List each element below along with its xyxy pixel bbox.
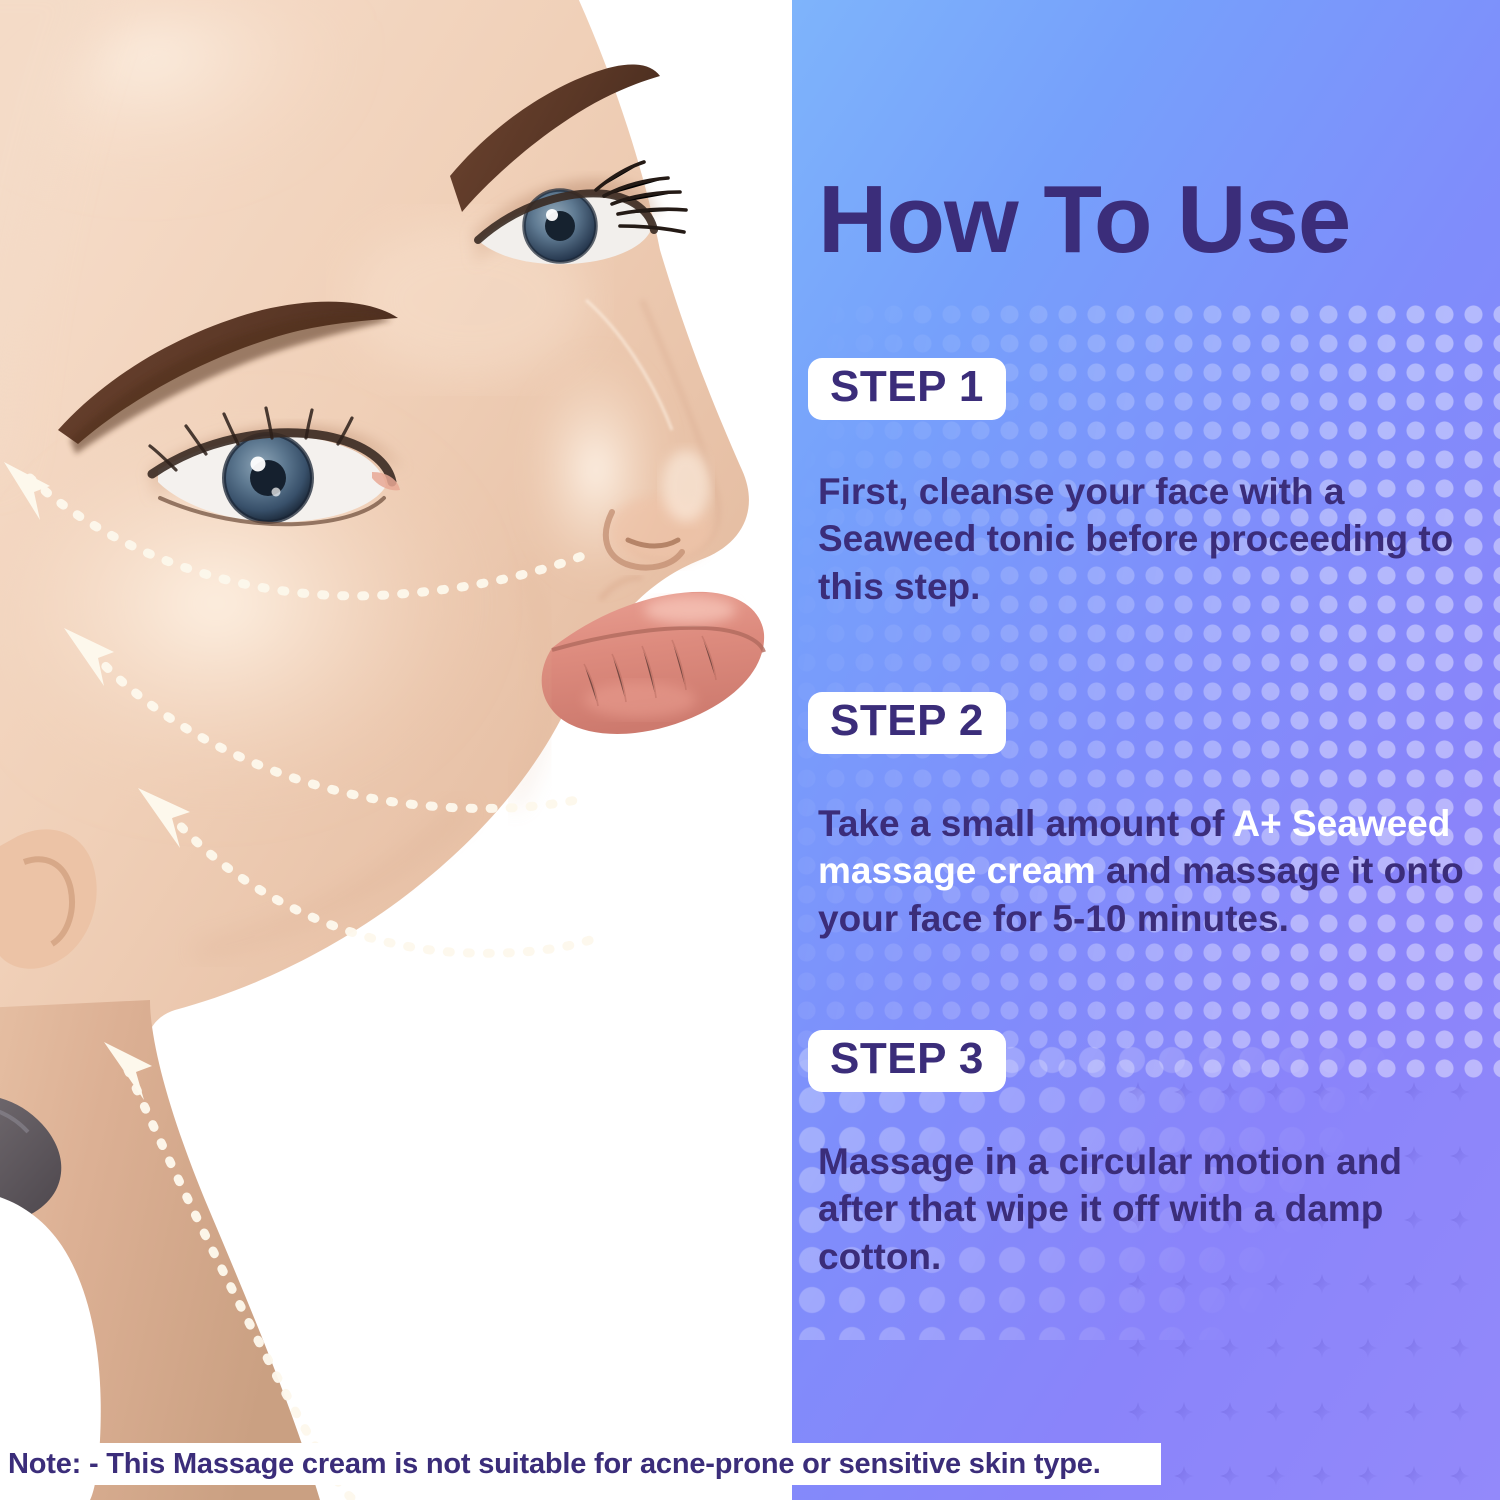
step-1-badge: STEP 1 xyxy=(808,358,1006,420)
disclaimer-note-bar: Note: - This Massage cream is not suitab… xyxy=(0,1443,1161,1485)
step-3-text-main: Massage in a circular motion and after t… xyxy=(818,1141,1402,1277)
model-face-photo xyxy=(0,0,792,1500)
poster-canvas: How To Use STEP 1 First, cleanse your fa… xyxy=(0,0,1500,1500)
step-2-badge: STEP 2 xyxy=(808,692,1006,754)
page-title: How To Use xyxy=(818,172,1478,268)
step-1-text: First, cleanse your face with a Seaweed … xyxy=(818,468,1482,610)
sparkle-diamond-pattern xyxy=(1122,1070,1500,1500)
step-2-text-pre: Take a small amount of xyxy=(818,803,1233,844)
disclaimer-note-text: Note: - This Massage cream is not suitab… xyxy=(8,1448,1101,1481)
step-3-badge: STEP 3 xyxy=(808,1030,1006,1092)
model-photo-panel xyxy=(0,0,792,1500)
step-2-text: Take a small amount of A+ Seaweed massag… xyxy=(818,800,1482,942)
how-to-use-panel: How To Use STEP 1 First, cleanse your fa… xyxy=(792,0,1500,1500)
step-1-text-main: First, cleanse your face with a Seaweed … xyxy=(818,471,1453,607)
step-3-text: Massage in a circular motion and after t… xyxy=(818,1138,1482,1280)
